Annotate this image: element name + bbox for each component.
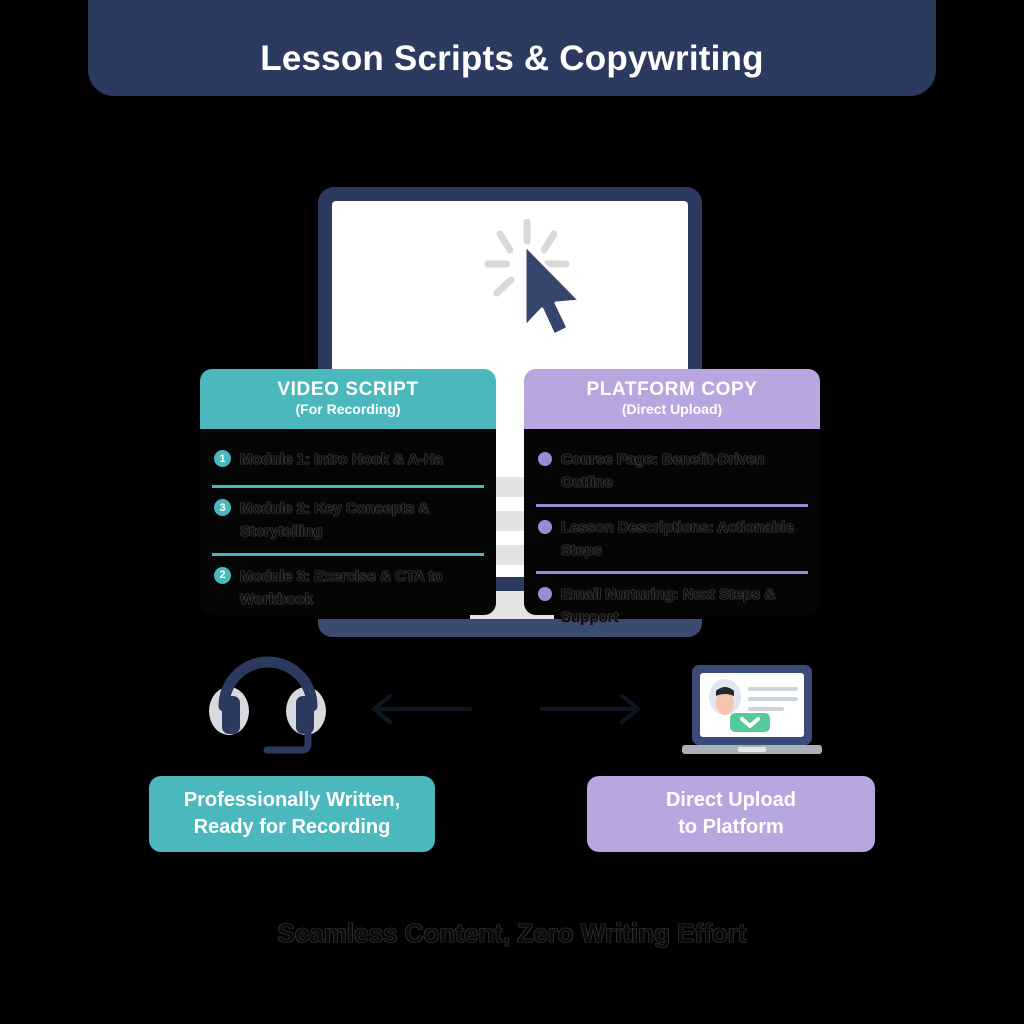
laptop-upload-icon bbox=[682, 661, 822, 761]
panel-subtitle: (Direct Upload) bbox=[622, 400, 722, 418]
panel-title: VIDEO SCRIPT bbox=[277, 380, 418, 400]
panel-body-video-script: 1 Module 1: Intro Hook & A-Ha 3 Module 2… bbox=[200, 429, 496, 615]
panel-title: PLATFORM COPY bbox=[586, 380, 757, 400]
panel-header-video-script: VIDEO SCRIPT (For Recording) bbox=[200, 369, 496, 429]
footer-tagline: Seamless Content, Zero Writing Effort bbox=[0, 918, 1024, 949]
panel-subtitle: (For Recording) bbox=[296, 400, 401, 418]
bullet-dot-icon bbox=[538, 520, 552, 534]
chip-line-1: Professionally Written, bbox=[184, 787, 400, 814]
list-item-label: Module 2: Key Concepts & Storytelling bbox=[240, 497, 482, 544]
flow-arrows bbox=[352, 688, 660, 730]
item-number-badge: 1 bbox=[214, 450, 231, 467]
item-number-badge: 2 bbox=[214, 567, 231, 584]
list-item[interactable]: 3 Module 2: Key Concepts & Storytelling bbox=[212, 485, 484, 553]
chip-direct-upload[interactable]: Direct Upload to Platform bbox=[587, 776, 875, 852]
page-title: Lesson Scripts & Copywriting bbox=[260, 41, 763, 76]
list-item[interactable]: Lesson Descriptions: Actionable Steps bbox=[536, 504, 808, 572]
headset-icon bbox=[198, 648, 338, 758]
bullet-dot-icon bbox=[538, 452, 552, 466]
download-chevron-icon bbox=[730, 713, 770, 732]
chip-ready-for-recording[interactable]: Professionally Written, Ready for Record… bbox=[149, 776, 435, 852]
list-item-label: Module 3: Exercise & CTA to Workbook bbox=[240, 565, 482, 612]
list-item[interactable]: 2 Module 3: Exercise & CTA to Workbook bbox=[212, 553, 484, 621]
click-cursor-icon bbox=[484, 219, 614, 344]
list-item[interactable]: 1 Module 1: Intro Hook & A-Ha bbox=[212, 439, 484, 485]
list-item-label: Lesson Descriptions: Actionable Steps bbox=[561, 516, 806, 563]
header-banner: Lesson Scripts & Copywriting bbox=[88, 0, 936, 96]
bullet-dot-icon bbox=[538, 587, 552, 601]
chip-line-1: Direct Upload bbox=[666, 787, 796, 814]
panel-body-platform-copy: Course Page: Benefit-Driven Outline Less… bbox=[524, 429, 820, 615]
list-item[interactable]: Email Nurturing: Next Steps & Support bbox=[536, 571, 808, 639]
chip-line-2: Ready for Recording bbox=[194, 814, 391, 841]
item-number-badge: 3 bbox=[214, 499, 231, 516]
panel-video-script: VIDEO SCRIPT (For Recording) 1 Module 1:… bbox=[200, 369, 496, 615]
list-item-label: Module 1: Intro Hook & A-Ha bbox=[240, 448, 443, 471]
panel-header-platform-copy: PLATFORM COPY (Direct Upload) bbox=[524, 369, 820, 429]
list-item-label: Email Nurturing: Next Steps & Support bbox=[561, 583, 806, 630]
chip-line-2: to Platform bbox=[678, 814, 784, 841]
list-item[interactable]: Course Page: Benefit-Driven Outline bbox=[536, 439, 808, 504]
list-item-label: Course Page: Benefit-Driven Outline bbox=[561, 448, 806, 495]
panel-platform-copy: PLATFORM COPY (Direct Upload) Course Pag… bbox=[524, 369, 820, 615]
